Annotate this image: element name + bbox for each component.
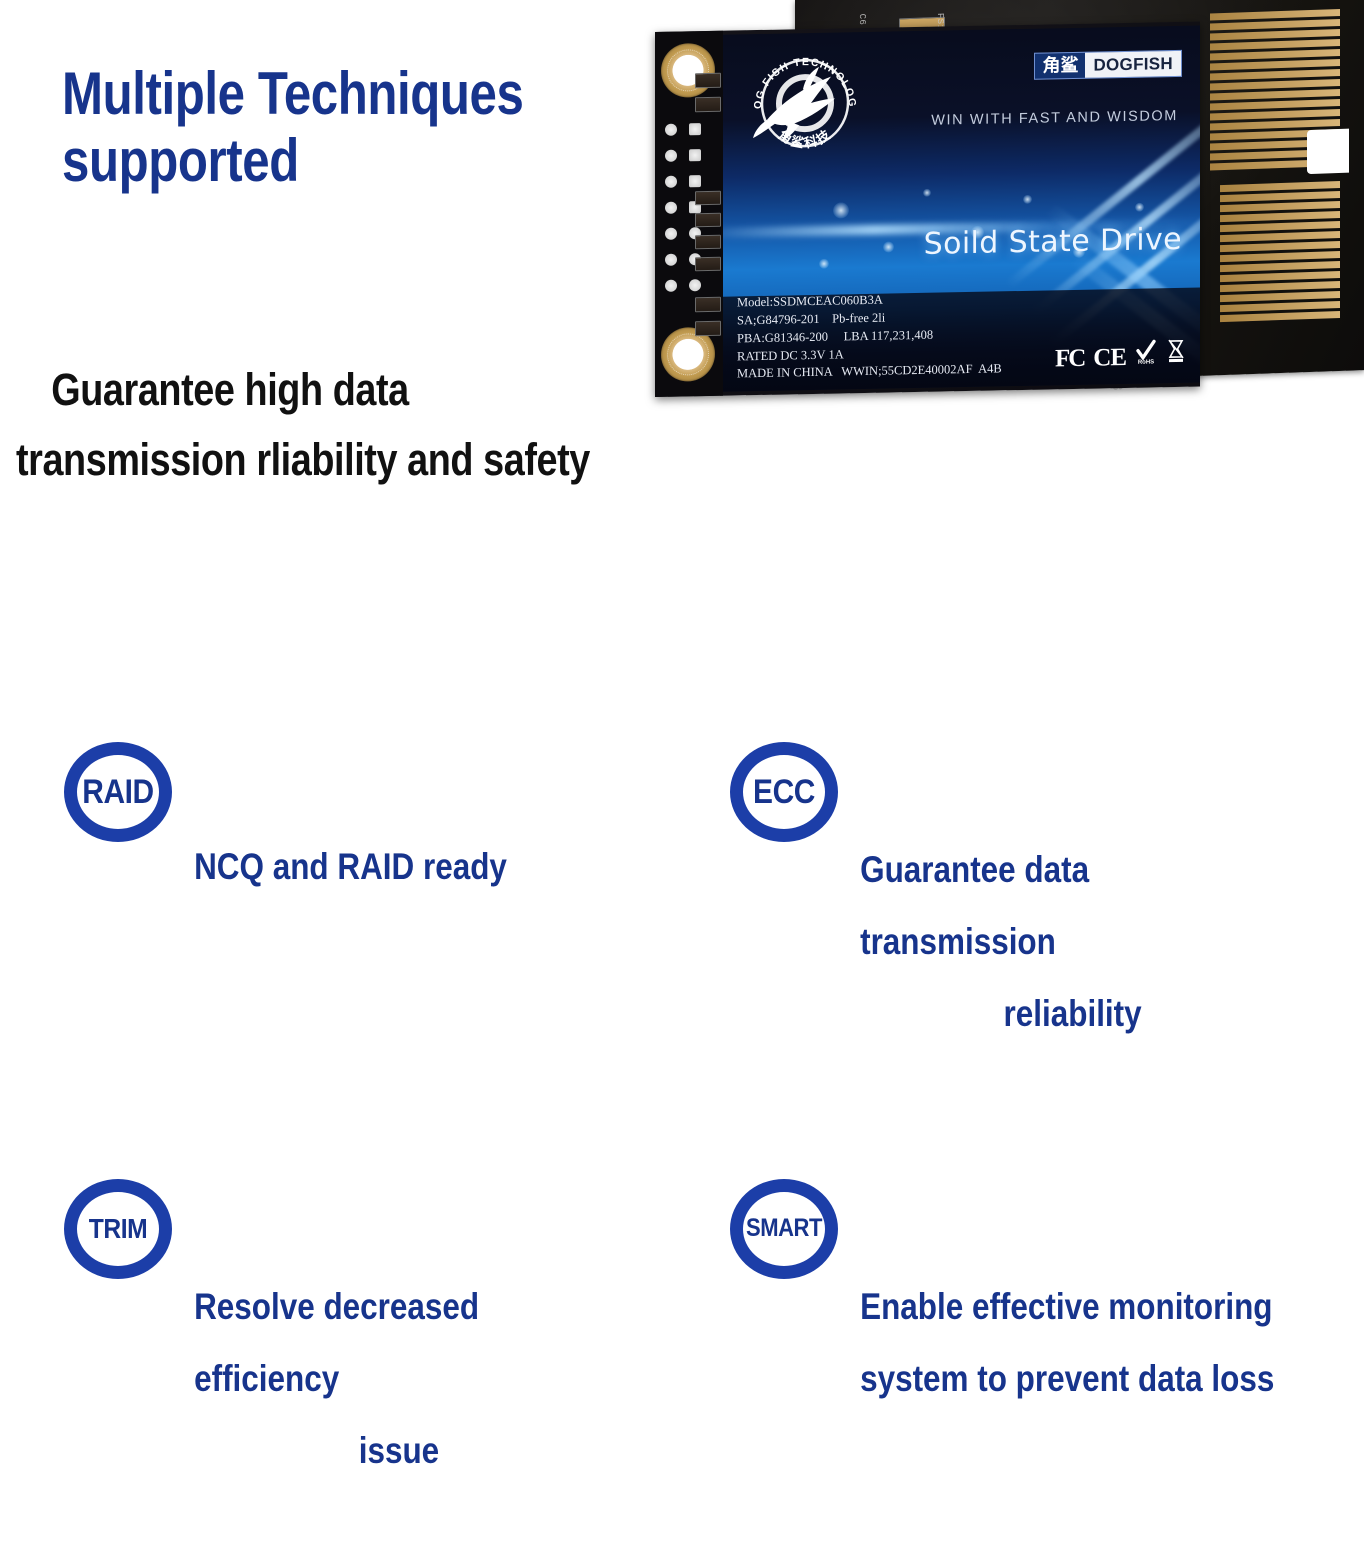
rohs-icon: RoHS	[1135, 338, 1157, 369]
feature-ecc-line-2: reliability	[860, 978, 1285, 1050]
smd-component	[695, 297, 721, 312]
rear-gold-fingers-bottom	[1220, 181, 1340, 322]
test-pad	[665, 202, 677, 214]
page-title: Multiple Techniques supported	[62, 60, 554, 194]
feature-smart: SMART Enable effective monitoring system…	[680, 1179, 1364, 1559]
label-bokeh	[819, 259, 829, 269]
test-pad	[665, 228, 677, 240]
feature-trim-line-2: issue	[194, 1415, 604, 1487]
test-pad	[665, 124, 677, 136]
trim-badge-icon: TRIM	[64, 1179, 172, 1279]
svg-text:RoHS: RoHS	[1138, 359, 1154, 364]
product-spec-text: Model:SSDMCEAC060B3A SA;G84796-201 Pb-fr…	[737, 290, 1002, 384]
feature-raid-line-1: NCQ and RAID ready	[194, 846, 507, 887]
feature-ecc-line-1: Guarantee data transmission	[860, 849, 1089, 962]
drive-type-label: Soild State Drive	[924, 222, 1182, 262]
feature-raid: RAID NCQ and RAID ready	[0, 742, 680, 1123]
feature-row-2: TRIM Resolve decreased efficiency issue …	[0, 1179, 1364, 1559]
dogfish-shark-logo: DOG FISH TECHNOLOGY 角鲨科技	[745, 46, 865, 160]
certification-marks: FC CE RoHS	[1055, 338, 1186, 372]
feature-list: RAID NCQ and RAID ready ECC Guarantee da…	[0, 742, 1364, 1559]
ssd-printed-label: DOG FISH TECHNOLOGY 角鲨科技 角鲨 DO	[723, 26, 1200, 392]
page-subtitle: Guarantee high data transmission rliabil…	[16, 355, 604, 495]
feature-smart-line-1: Enable effective monitoring	[860, 1286, 1272, 1327]
feature-ecc-text: Guarantee data transmission reliability	[838, 742, 1285, 1123]
test-pad	[689, 175, 701, 187]
front-pcb-board: DOG FISH TECHNOLOGY 角鲨科技 角鲨 DO	[655, 22, 1200, 397]
label-bokeh	[923, 189, 931, 197]
subtitle-line-1: Guarantee high data	[16, 355, 604, 425]
feature-trim-text: Resolve decreased efficiency issue	[172, 1179, 604, 1559]
smd-component	[695, 73, 721, 88]
test-pad	[665, 176, 677, 188]
badge-label: SMART	[736, 1179, 831, 1279]
label-bokeh	[1023, 195, 1032, 204]
ce-icon: CE	[1093, 345, 1126, 371]
smd-component	[695, 97, 721, 112]
test-pad	[689, 279, 701, 291]
dogfish-brand-badge: 角鲨 DOGFISH	[1034, 50, 1182, 80]
feature-smart-line-2: system to prevent data loss	[860, 1343, 1274, 1415]
ecc-badge-icon: ECC	[730, 742, 838, 842]
product-image: SW2246XT_Msata_BGA_4F_01218 C6 FS1 R28 R…	[655, 0, 1364, 410]
label-bokeh	[1135, 203, 1144, 212]
brand-name-cn: 角鲨	[1035, 53, 1085, 79]
test-pad	[665, 280, 677, 292]
test-pad	[665, 254, 677, 266]
feature-trim-line-1: Resolve decreased efficiency	[194, 1286, 479, 1399]
feature-raid-text: NCQ and RAID ready	[172, 742, 507, 903]
test-pad	[665, 150, 677, 162]
test-pad	[689, 149, 701, 161]
weee-crossed-bin-icon	[1166, 338, 1186, 369]
rear-gold-fingers-top	[1210, 9, 1340, 171]
msata-key-notch	[1307, 129, 1349, 174]
badge-label: TRIM	[70, 1179, 165, 1279]
subtitle-line-2: transmission rliability and safety	[16, 425, 604, 495]
front-mount-hole-top	[661, 43, 715, 98]
brand-name-en: DOGFISH	[1085, 51, 1181, 78]
feature-ecc: ECC Guarantee data transmission reliabil…	[680, 742, 1364, 1123]
label-bokeh	[883, 241, 894, 252]
fcc-icon: FC	[1055, 346, 1084, 372]
test-pad	[689, 123, 701, 135]
badge-label: ECC	[736, 742, 831, 842]
brand-tagline: WIN WITH FAST AND WISDOM	[931, 108, 1178, 129]
smd-component	[695, 213, 721, 227]
label-bokeh	[833, 202, 849, 218]
raid-badge-icon: RAID	[64, 742, 172, 842]
feature-row-1: RAID NCQ and RAID ready ECC Guarantee da…	[0, 742, 1364, 1123]
pcb-designator: C6	[857, 13, 867, 25]
badge-label: RAID	[70, 742, 165, 842]
smd-component	[695, 321, 721, 336]
feature-trim: TRIM Resolve decreased efficiency issue	[0, 1179, 680, 1559]
smd-component	[695, 235, 721, 249]
feature-smart-text: Enable effective monitoring system to pr…	[838, 1179, 1274, 1488]
smd-component	[695, 191, 721, 205]
smd-component	[695, 257, 721, 271]
smart-badge-icon: SMART	[730, 1179, 838, 1279]
